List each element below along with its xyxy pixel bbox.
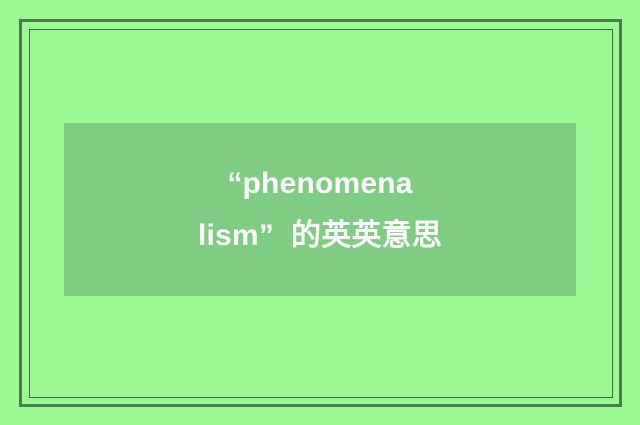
poster-canvas: “phenomena lism” 的英英意思 <box>0 0 640 425</box>
title-line-1: “phenomena <box>64 158 576 210</box>
title-line-2: lism” 的英英意思 <box>64 210 576 262</box>
title-block: “phenomena lism” 的英英意思 <box>64 158 576 262</box>
title-card: “phenomena lism” 的英英意思 <box>64 123 576 296</box>
